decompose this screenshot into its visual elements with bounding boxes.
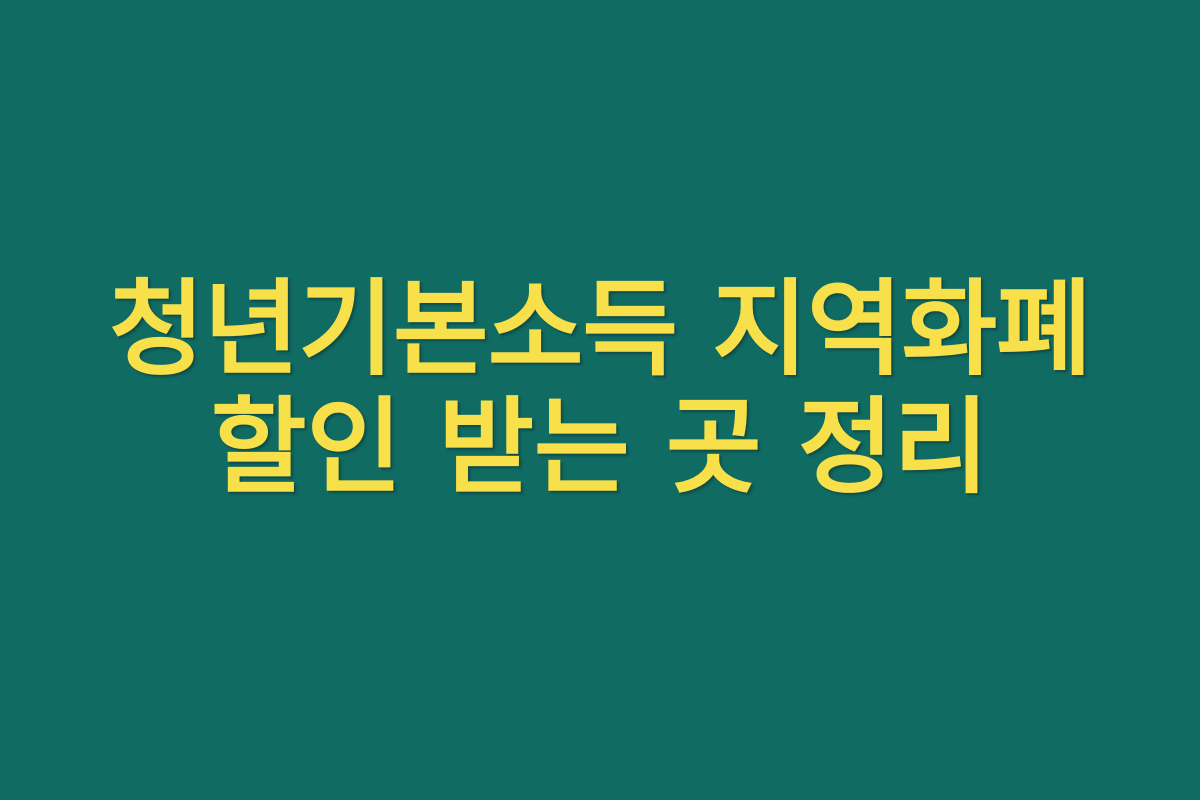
title-line-1: 청년기본소득 지역화폐 — [0, 270, 1200, 388]
title-line-2: 할인 받는 곳 정리 — [0, 388, 1200, 506]
title-block: 청년기본소득 지역화폐 할인 받는 곳 정리 — [0, 270, 1200, 506]
title-card-banner: 청년기본소득 지역화폐 할인 받는 곳 정리 — [0, 0, 1200, 800]
